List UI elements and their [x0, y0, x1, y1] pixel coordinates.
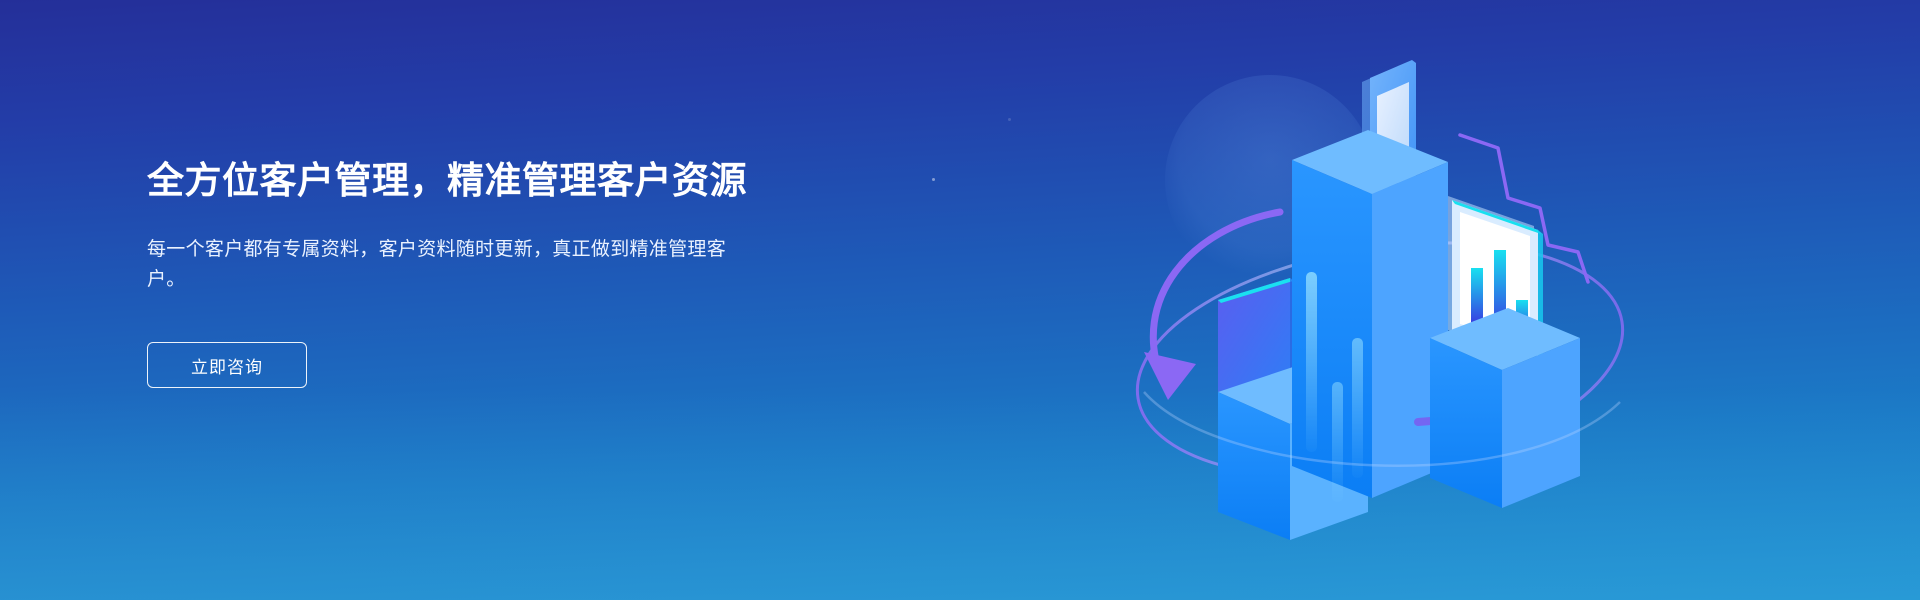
hero-subtitle: 每一个客户都有专属资料，客户资料随时更新，真正做到精准管理客户。 — [147, 235, 747, 297]
hero-copy-block: 全方位客户管理，精准管理客户资源 每一个客户都有专属资料，客户资料随时更新，真正… — [147, 160, 907, 388]
pedestal-right — [1430, 196, 1580, 508]
pedestal-center — [1292, 60, 1448, 502]
hero-illustration — [1100, 0, 1660, 600]
sparkle-dot-icon — [932, 178, 935, 181]
consult-now-button[interactable]: 立即咨询 — [147, 342, 307, 388]
sparkle-dot-icon — [1008, 118, 1011, 121]
hero-banner: 全方位客户管理，精准管理客户资源 每一个客户都有专属资料，客户资料随时更新，真正… — [0, 0, 1920, 600]
page-title: 全方位客户管理，精准管理客户资源 — [147, 160, 907, 203]
